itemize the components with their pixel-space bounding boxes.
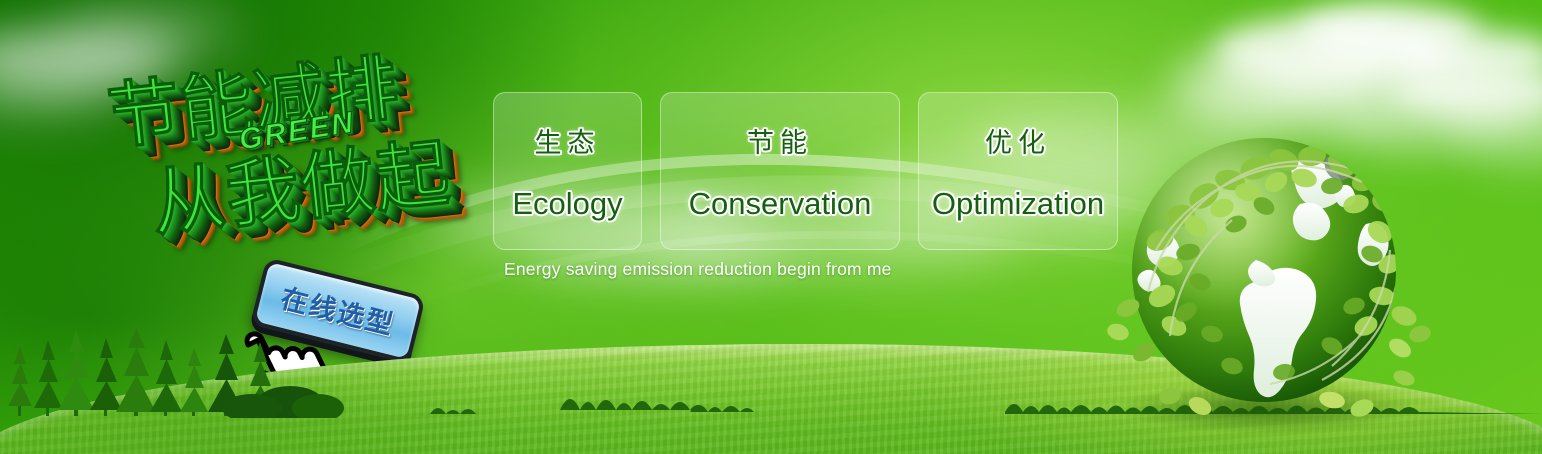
eco-promo-banner: 节能减排 GREEN 从我做起 在线选型 生态 Ecology 节能 Conse… [0, 0, 1542, 454]
feature-card-optimization[interactable]: 优化 Optimization [918, 92, 1118, 250]
tagline-text: Energy saving emission reduction begin f… [504, 259, 892, 280]
feature-card-title-cn: 优化 [985, 121, 1051, 160]
feature-card-title-en: Optimization [932, 186, 1104, 222]
leafy-green-globe-image [1104, 120, 1444, 450]
feature-card-title-cn: 节能 [747, 121, 813, 160]
feature-card-ecology[interactable]: 生态 Ecology [493, 92, 642, 250]
conifer-tree-silhouette [8, 328, 344, 418]
feature-card-conservation[interactable]: 节能 Conservation [660, 92, 900, 250]
feature-card-title-en: Ecology [512, 186, 622, 222]
feature-card-title-cn: 生态 [535, 121, 601, 160]
feature-card-title-en: Conservation [689, 186, 872, 222]
feature-cards: 生态 Ecology 节能 Conservation 优化 Optimizati… [493, 92, 1118, 250]
headline-3d-text: 节能减排 GREEN 从我做起 [84, 17, 528, 310]
